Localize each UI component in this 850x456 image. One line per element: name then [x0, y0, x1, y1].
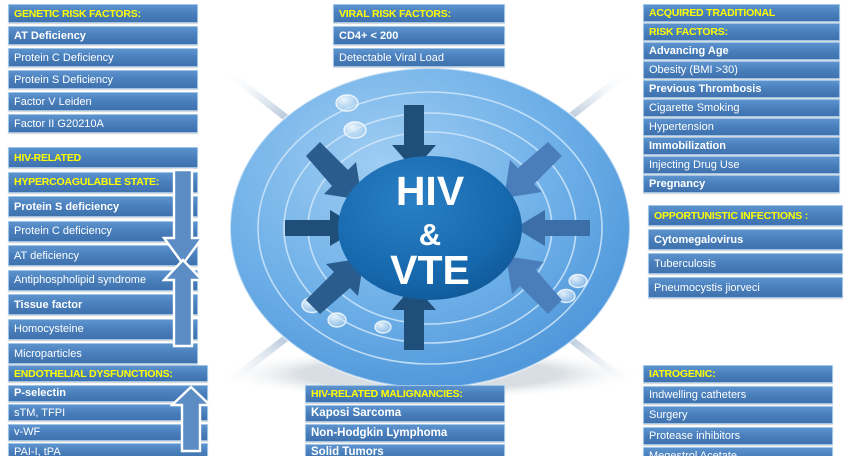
- risk-row: Megestrol Acetate: [643, 447, 833, 456]
- risk-row: VIRAL RISK FACTORS:: [333, 4, 505, 23]
- risk-row: Homocysteine: [8, 319, 198, 340]
- risk-row: IATROGENIC:: [643, 365, 833, 383]
- risk-row: ENDOTHELIAL DYSFUNCTIONS:: [8, 365, 208, 382]
- concentric-rings: [258, 92, 602, 364]
- panel-viral-risk-factors: VIRAL RISK FACTORS:CD4+ < 200Detectable …: [333, 4, 505, 70]
- risk-row: Antiphospholipid syndrome: [8, 270, 198, 291]
- risk-row: Factor V Leiden: [8, 92, 198, 111]
- risk-row: Indwelling catheters: [643, 386, 833, 404]
- risk-row: PAI-I, tPA: [8, 443, 208, 456]
- risk-row: Advancing Age: [643, 42, 840, 60]
- arrow-west: [285, 210, 360, 246]
- risk-row: Injecting Drug Use: [643, 156, 840, 174]
- risk-row: AT Deficiency: [8, 26, 198, 45]
- risk-row: Detectable Viral Load: [333, 48, 505, 67]
- risk-row: Non-Hodgkin Lymphoma: [305, 424, 505, 442]
- panel-endothelial-dysfunctions: ENDOTHELIAL DYSFUNCTIONS:P-selectinsTM, …: [8, 365, 208, 456]
- risk-row: Surgery: [643, 406, 833, 424]
- center-label-amp: &: [419, 217, 441, 252]
- inner-disc: [338, 156, 522, 300]
- risk-row: P-selectin: [8, 385, 208, 402]
- risk-row: sTM, TFPI: [8, 404, 208, 421]
- panel-acquired-traditional-risk-factors: ACQUIRED TRADITIONALRISK FACTORS:Advanci…: [643, 4, 840, 194]
- risk-row: HIV-RELATED MALIGNANCIES:: [305, 385, 505, 403]
- arrow-northwest: [306, 142, 362, 200]
- outer-disc: [230, 68, 630, 388]
- risk-row: HIV-RELATED: [8, 147, 198, 168]
- risk-row: Protein S Deficiency: [8, 70, 198, 89]
- risk-row: Kaposi Sarcoma: [305, 405, 505, 423]
- risk-row: Protein C deficiency: [8, 221, 198, 242]
- risk-row: Obesity (BMI >30): [643, 61, 840, 79]
- center-label-vte: VTE: [390, 247, 470, 293]
- risk-row: RISK FACTORS:: [643, 23, 840, 41]
- risk-row: Cytomegalovirus: [648, 229, 843, 250]
- risk-row: Pregnancy: [643, 175, 840, 193]
- risk-row: Factor II G20210A: [8, 114, 198, 133]
- risk-row: Tissue factor: [8, 294, 198, 315]
- risk-row: AT deficiency: [8, 245, 198, 266]
- bubble-decorations: [302, 95, 587, 333]
- risk-row: Cigarette Smoking: [643, 99, 840, 117]
- panel-hiv-related-malignancies: HIV-RELATED MALIGNANCIES:Kaposi SarcomaN…: [305, 385, 505, 456]
- arrow-southwest: [306, 258, 364, 314]
- risk-row: Protein S deficiency: [8, 196, 198, 217]
- risk-row: Protease inhibitors: [643, 427, 833, 445]
- panel-genetic-risk-factors: GENETIC RISK FACTORS:AT DeficiencyProtei…: [8, 4, 198, 136]
- risk-row: Protein C Deficiency: [8, 48, 198, 67]
- risk-row: Previous Thrombosis: [643, 80, 840, 98]
- risk-row: HYPERCOAGULABLE STATE:: [8, 172, 198, 193]
- panel-iatrogenic: IATROGENIC:Indwelling cathetersSurgeryPr…: [643, 365, 833, 456]
- arrow-northeast: [504, 142, 562, 198]
- arrow-north: [392, 105, 436, 170]
- risk-row: Solid Tumors: [305, 444, 505, 456]
- arrow-east: [515, 210, 590, 246]
- risk-row: Hypertension: [643, 118, 840, 136]
- risk-row: ACQUIRED TRADITIONAL: [643, 4, 840, 22]
- risk-row: Tuberculosis: [648, 253, 843, 274]
- connector-lines: [196, 14, 664, 440]
- risk-row: GENETIC RISK FACTORS:: [8, 4, 198, 23]
- risk-row: OPPORTUNISTIC INFECTIONS :: [648, 205, 843, 226]
- risk-row: v-WF: [8, 424, 208, 441]
- arrow-southeast: [506, 256, 562, 314]
- center-label-hiv: HIV: [396, 168, 465, 214]
- arrow-south: [392, 285, 436, 350]
- risk-row: Microparticles: [8, 343, 198, 364]
- risk-row: Pneumocystis jiorveci: [648, 277, 843, 298]
- diagram-canvas: HIV & VTE GENETIC RISK FACTORS:AT Defici…: [0, 0, 850, 456]
- risk-row: Immobilization: [643, 137, 840, 155]
- inward-arrows: [285, 105, 590, 350]
- panel-hiv-related-hypercoagulable-state: HIV-RELATEDHYPERCOAGULABLE STATE:Protein…: [8, 147, 198, 368]
- panel-opportunistic-infections: OPPORTUNISTIC INFECTIONS :Cytomegaloviru…: [648, 205, 843, 301]
- risk-row: CD4+ < 200: [333, 26, 505, 45]
